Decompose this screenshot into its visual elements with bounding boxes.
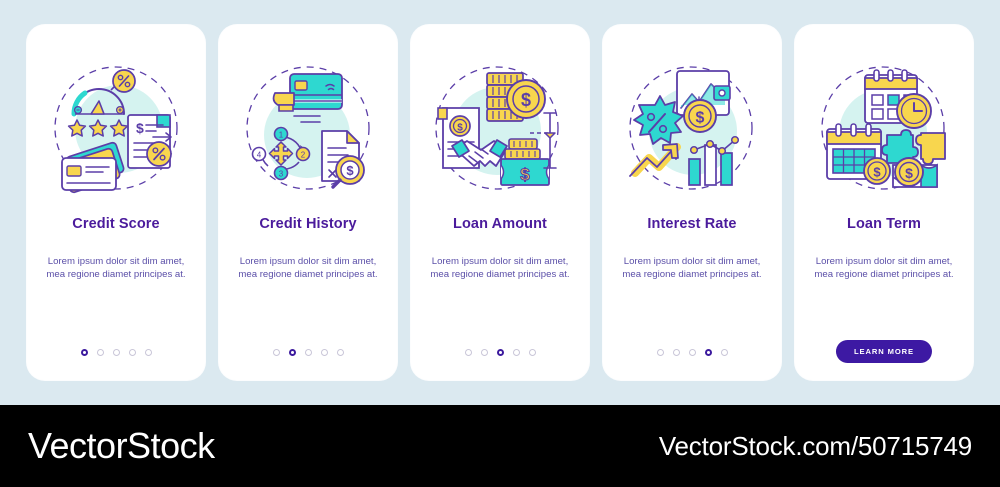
onboarding-screen-loan-term[interactable]: $ $ Loan Term Lorem ipsum dolor sit dim … bbox=[795, 25, 973, 380]
onboarding-screen-credit-score[interactable]: $ Credit Score Lorem ipsum dolor sit dim… bbox=[27, 25, 205, 380]
loan-term-illustration: $ $ bbox=[809, 53, 959, 203]
credit-history-illustration: 1 2 3 4 $ bbox=[233, 53, 383, 203]
pagination-dot-3[interactable] bbox=[689, 349, 696, 356]
pagination-dot-1[interactable] bbox=[657, 349, 664, 356]
screen-body-text: Lorem ipsum dolor sit dim amet, mea regi… bbox=[430, 255, 570, 281]
screen-title: Interest Rate bbox=[647, 215, 736, 233]
pagination-dot-3[interactable] bbox=[305, 349, 312, 356]
pagination-dot-1[interactable] bbox=[273, 349, 280, 356]
pagination-dot-4[interactable] bbox=[321, 349, 328, 356]
loan-amount-illustration: $ $ bbox=[425, 53, 575, 203]
pagination-dot-3[interactable] bbox=[113, 349, 120, 356]
svg-text:$: $ bbox=[905, 165, 913, 181]
svg-text:$: $ bbox=[696, 110, 705, 127]
pagination-dot-2[interactable] bbox=[481, 349, 488, 356]
svg-text:$: $ bbox=[136, 120, 144, 136]
pagination-dots[interactable] bbox=[603, 349, 781, 356]
watermark-footer: VectorStock VectorStock.com/50715749 bbox=[0, 405, 1000, 487]
screen-title: Credit History bbox=[259, 215, 356, 233]
interest-rate-illustration: $ bbox=[617, 53, 767, 203]
pagination-dot-5[interactable] bbox=[337, 349, 344, 356]
svg-text:$: $ bbox=[457, 123, 463, 134]
svg-text:$: $ bbox=[346, 163, 354, 178]
pagination-dot-2[interactable] bbox=[673, 349, 680, 356]
svg-text:3: 3 bbox=[279, 170, 284, 179]
screen-body-text: Lorem ipsum dolor sit dim amet, mea regi… bbox=[622, 255, 762, 281]
onboarding-screen-loan-amount[interactable]: $ $ bbox=[411, 25, 589, 380]
svg-text:$: $ bbox=[521, 90, 531, 110]
pagination-dot-4[interactable] bbox=[705, 349, 712, 356]
screen-title: Loan Term bbox=[847, 215, 921, 233]
screenshot-canvas: $ Credit Score Lorem ipsum dolor sit dim… bbox=[0, 0, 1000, 487]
svg-text:$: $ bbox=[520, 165, 530, 184]
learn-more-button[interactable]: LEARN MORE bbox=[836, 340, 932, 363]
vectorstock-logo: VectorStock bbox=[28, 425, 215, 467]
pagination-dot-1[interactable] bbox=[465, 349, 472, 356]
pagination-dot-5[interactable] bbox=[145, 349, 152, 356]
pagination-dot-4[interactable] bbox=[513, 349, 520, 356]
pagination-dot-4[interactable] bbox=[129, 349, 136, 356]
onboarding-screen-credit-history[interactable]: 1 2 3 4 $ Credit bbox=[219, 25, 397, 380]
screen-body-text: Lorem ipsum dolor sit dim amet, mea regi… bbox=[814, 255, 954, 281]
pagination-dots[interactable] bbox=[219, 349, 397, 356]
pagination-dot-1[interactable] bbox=[81, 349, 88, 356]
screen-body-text: Lorem ipsum dolor sit dim amet, mea regi… bbox=[46, 255, 186, 281]
screen-body-text: Lorem ipsum dolor sit dim amet, mea regi… bbox=[238, 255, 378, 281]
pagination-dot-2[interactable] bbox=[289, 349, 296, 356]
pagination-dots[interactable] bbox=[411, 349, 589, 356]
svg-text:1: 1 bbox=[279, 131, 284, 140]
svg-text:2: 2 bbox=[301, 151, 306, 160]
screen-title: Loan Amount bbox=[453, 215, 547, 233]
vectorstock-url: VectorStock.com/50715749 bbox=[659, 431, 972, 462]
svg-text:4: 4 bbox=[257, 151, 262, 160]
pagination-dot-5[interactable] bbox=[529, 349, 536, 356]
pagination-dot-5[interactable] bbox=[721, 349, 728, 356]
onboarding-screen-interest-rate[interactable]: $ bbox=[603, 25, 781, 380]
onboarding-screens: $ Credit Score Lorem ipsum dolor sit dim… bbox=[0, 0, 1000, 405]
screen-title: Credit Score bbox=[72, 215, 159, 233]
svg-text:$: $ bbox=[873, 165, 881, 180]
pagination-dot-2[interactable] bbox=[97, 349, 104, 356]
pagination-dot-3[interactable] bbox=[497, 349, 504, 356]
pagination-dots[interactable] bbox=[27, 349, 205, 356]
credit-score-illustration: $ bbox=[41, 53, 191, 203]
